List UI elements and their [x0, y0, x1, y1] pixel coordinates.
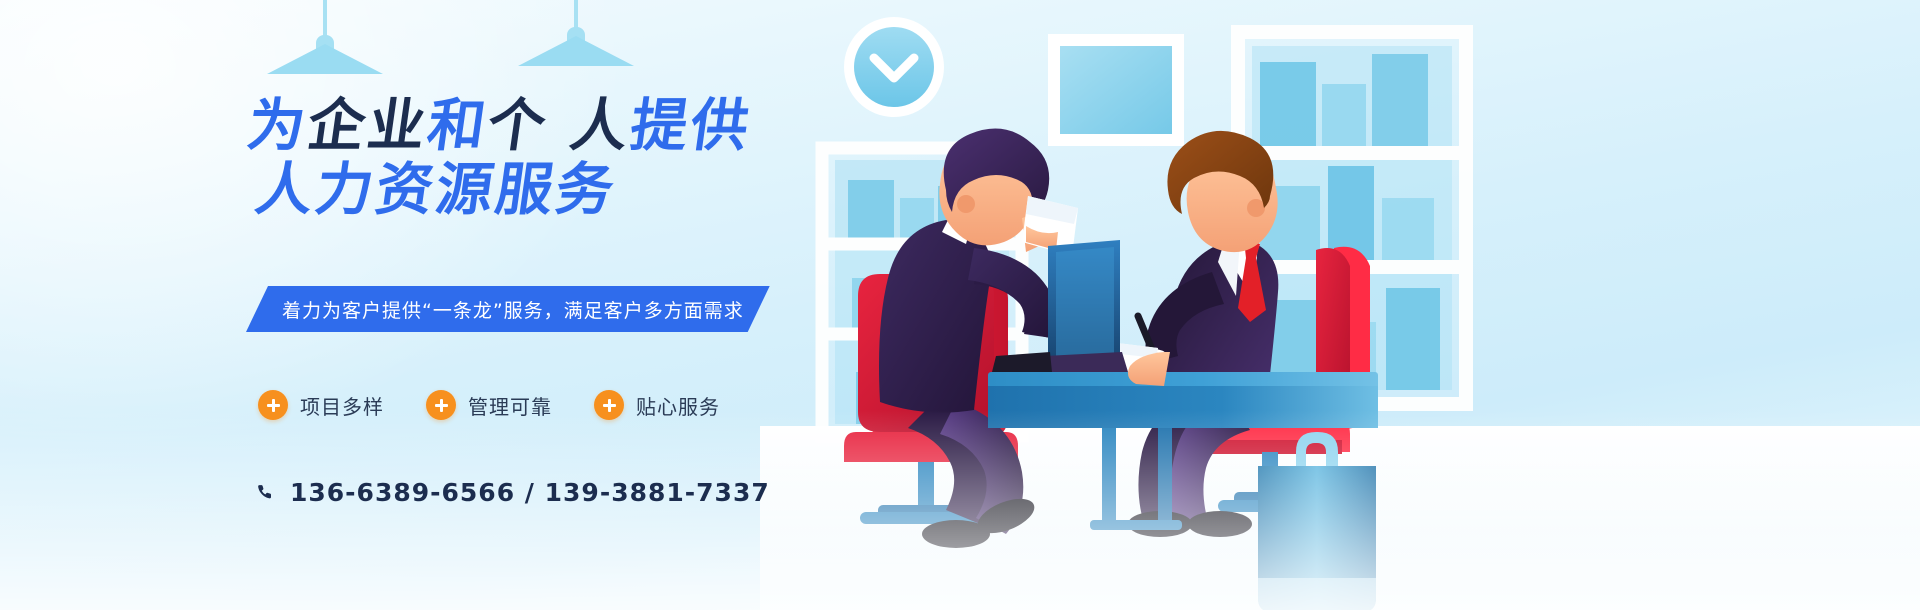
headline-line-1: 为企业和个 人提供	[244, 96, 755, 156]
headline-seg-3: 和	[423, 93, 492, 159]
feature-label: 管理可靠	[468, 391, 552, 420]
plus-icon	[426, 390, 456, 420]
feature-label: 贴心服务	[636, 391, 720, 420]
lamp-cord	[574, 0, 578, 29]
office-interview-illustration	[760, 0, 1920, 610]
background-glow	[0, 0, 700, 500]
picture-frame	[1048, 34, 1184, 146]
hr-service-banner: 为企业和个 人提供 人力资源服务 着力为客户提供“一条龙”服务，满足客户多方面需…	[0, 0, 1920, 610]
ribbon-text: 着力为客户提供“一条龙”服务，满足客户多方面需求	[246, 286, 770, 332]
headline-line-2: 人力资源服务	[252, 160, 620, 220]
headline-seg-2: 企业	[303, 93, 432, 159]
lamp-shade	[267, 44, 383, 74]
phone-number-text: 136-6389-6566 / 139-3881-7337	[290, 478, 770, 507]
feature-item[interactable]: 项目多样	[258, 390, 384, 420]
lamp-shade	[518, 36, 634, 66]
feature-item[interactable]: 管理可靠	[426, 390, 552, 420]
pendant-lamp	[518, 0, 634, 69]
plus-icon	[258, 390, 288, 420]
plus-icon	[594, 390, 624, 420]
headline-seg-1: 为	[243, 93, 312, 159]
feature-item[interactable]: 贴心服务	[594, 390, 720, 420]
subtitle-ribbon: 着力为客户提供“一条龙”服务，满足客户多方面需求	[246, 286, 770, 332]
contact-phone[interactable]: 136-6389-6566 / 139-3881-7337	[256, 478, 770, 507]
feature-list: 项目多样 管理可靠 贴心服务	[258, 390, 720, 420]
pendant-lamp	[267, 0, 383, 69]
wall-clock-icon	[844, 17, 944, 117]
lamp-cord	[323, 0, 327, 37]
phone-icon	[256, 483, 276, 503]
headline-seg-5: 提供	[626, 93, 755, 159]
feature-label: 项目多样	[300, 391, 384, 420]
headline-seg-4: 个 人	[483, 93, 635, 159]
